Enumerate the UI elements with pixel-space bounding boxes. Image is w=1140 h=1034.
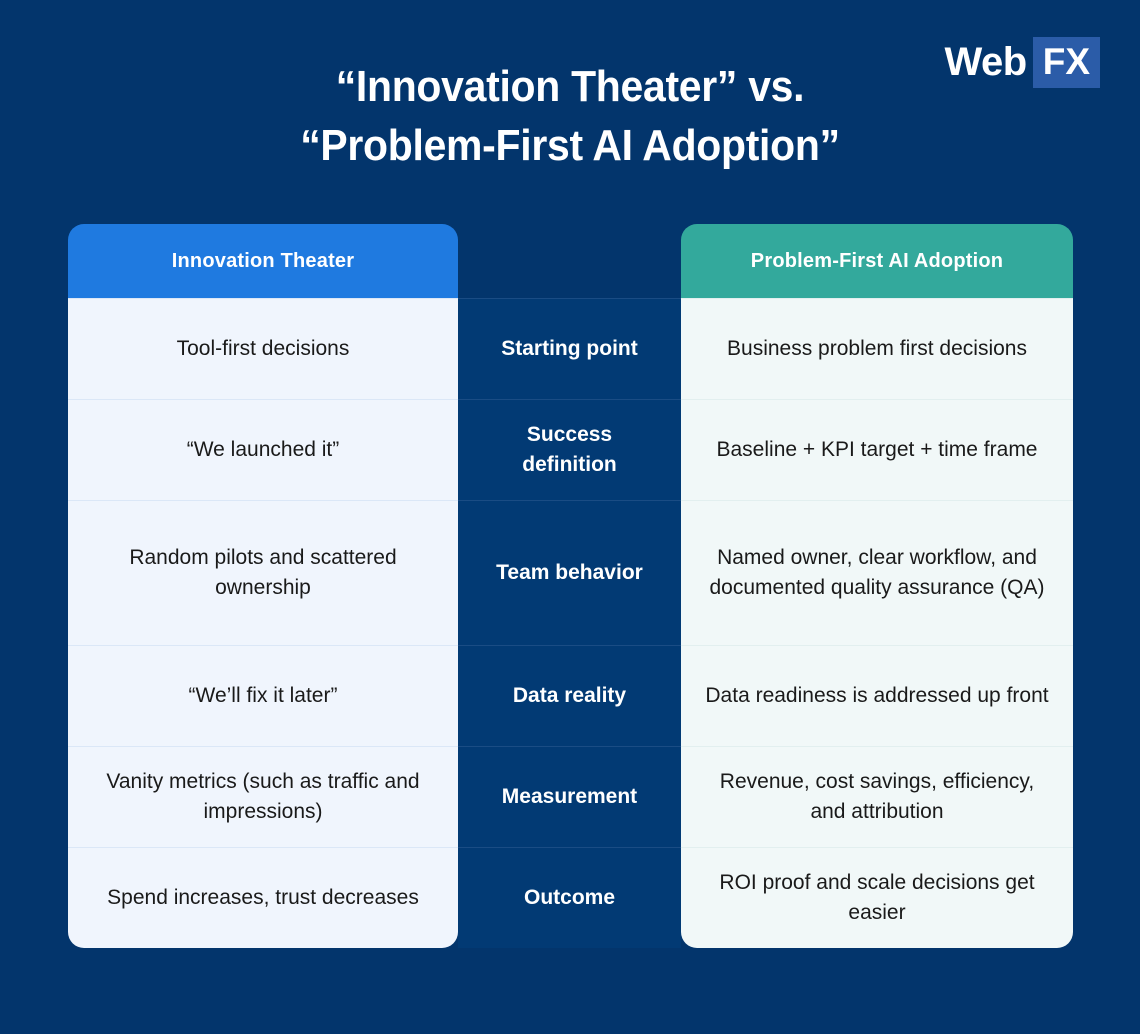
column-header-innovation-theater: Innovation Theater — [68, 224, 458, 298]
page-title-line-1: “Innovation Theater” vs. — [40, 58, 1100, 117]
table-row-label: Data reality — [458, 645, 681, 746]
comparison-table: Innovation Theater Problem-First AI Adop… — [68, 224, 1073, 972]
column-header-left-label: Innovation Theater — [172, 250, 355, 273]
table-row-label: Team behavior — [458, 500, 681, 645]
table-cell-right: Business problem first decisions — [681, 298, 1073, 399]
table-row-label: Success definition — [458, 399, 681, 500]
table-cell-right: Named owner, clear workflow, and documen… — [681, 500, 1073, 645]
table-cell-left: Spend increases, trust decreases — [68, 847, 458, 948]
table-cell-left: Random pilots and scattered ownership — [68, 500, 458, 645]
table-row-label: Starting point — [458, 298, 681, 399]
table-cell-right: Baseline + KPI target + time frame — [681, 399, 1073, 500]
column-header-middle-spacer — [458, 224, 681, 298]
table-cell-left: “We’ll fix it later” — [68, 645, 458, 746]
page-title-line-2: “Problem-First AI Adoption” — [40, 117, 1100, 176]
table-cell-left: Tool-first decisions — [68, 298, 458, 399]
table-row-label: Outcome — [458, 847, 681, 948]
column-header-problem-first-ai-adoption: Problem-First AI Adoption — [681, 224, 1073, 298]
table-cell-right: Data readiness is addressed up front — [681, 645, 1073, 746]
table-cell-right: ROI proof and scale decisions get easier — [681, 847, 1073, 948]
column-header-right-label: Problem-First AI Adoption — [751, 250, 1003, 273]
table-cell-right: Revenue, cost savings, efficiency, and a… — [681, 746, 1073, 847]
table-row-label: Measurement — [458, 746, 681, 847]
page-title: “Innovation Theater” vs. “Problem-First … — [40, 58, 1100, 175]
table-cell-left: Vanity metrics (such as traffic and impr… — [68, 746, 458, 847]
table-cell-left: “We launched it” — [68, 399, 458, 500]
